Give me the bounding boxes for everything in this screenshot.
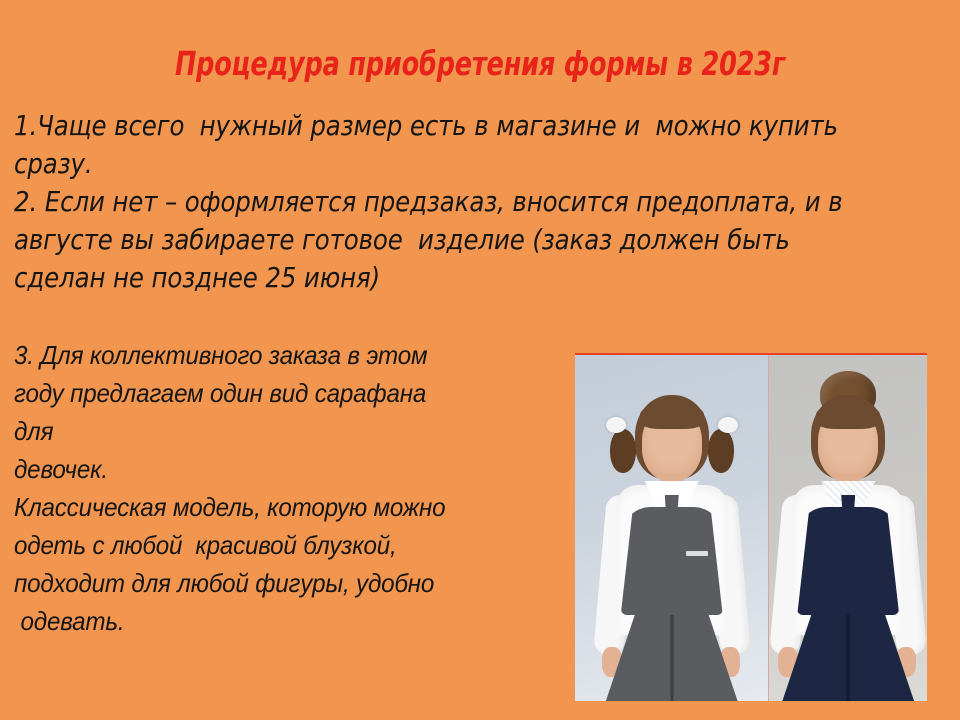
body-top-line: августе вы забираете готовое изделие (за… xyxy=(14,221,916,259)
uniform-photo-pair xyxy=(575,353,927,701)
slide: Процедура приобретения формы в 2023г 1.Ч… xyxy=(0,0,960,720)
body-top-line: 1.Чаще всего нужный размер есть в магази… xyxy=(14,107,916,145)
body-paragraph-top: 1.Чаще всего нужный размер есть в магази… xyxy=(14,107,944,297)
waist-bow xyxy=(826,597,870,611)
body-left-line: подходит для любой фигуры, удобно xyxy=(14,564,535,602)
hair-bow-left-icon xyxy=(606,417,626,433)
body-left-line: одевать. xyxy=(14,602,535,640)
pleat-line xyxy=(847,607,850,701)
fringe-icon xyxy=(816,403,880,429)
photo-girl-navy-pinafore xyxy=(768,355,927,701)
body-left-line: году предлагаем один вид сарафана xyxy=(14,374,535,412)
body-left-line: девочек. xyxy=(14,450,535,488)
brand-tag-icon xyxy=(686,551,708,556)
waist-bow xyxy=(650,597,694,611)
body-top-line: сразу. xyxy=(14,145,916,183)
body-left-line: 3. Для коллективного заказа в этом xyxy=(14,336,535,374)
fringe-icon xyxy=(640,403,704,429)
body-left-line: одеть с любой красивой блузкой, xyxy=(14,526,535,564)
pigtail-right-icon xyxy=(708,429,734,473)
body-top-line: сделан не позднее 25 июня) xyxy=(14,259,916,297)
hair-bow-right-icon xyxy=(718,417,738,433)
body-paragraph-left: 3. Для коллективного заказа в этом году … xyxy=(14,336,574,640)
body-left-line: Классическая модель, которую можно xyxy=(14,488,535,526)
pleat-line xyxy=(670,607,673,701)
body-left-line: для xyxy=(14,412,535,450)
photo-girl-grey-pinafore xyxy=(575,355,768,701)
body-top-line: 2. Если нет – оформляется предзаказ, вно… xyxy=(14,183,916,221)
page-title: Процедура приобретения формы в 2023г xyxy=(67,44,893,84)
pigtail-left-icon xyxy=(610,429,636,473)
